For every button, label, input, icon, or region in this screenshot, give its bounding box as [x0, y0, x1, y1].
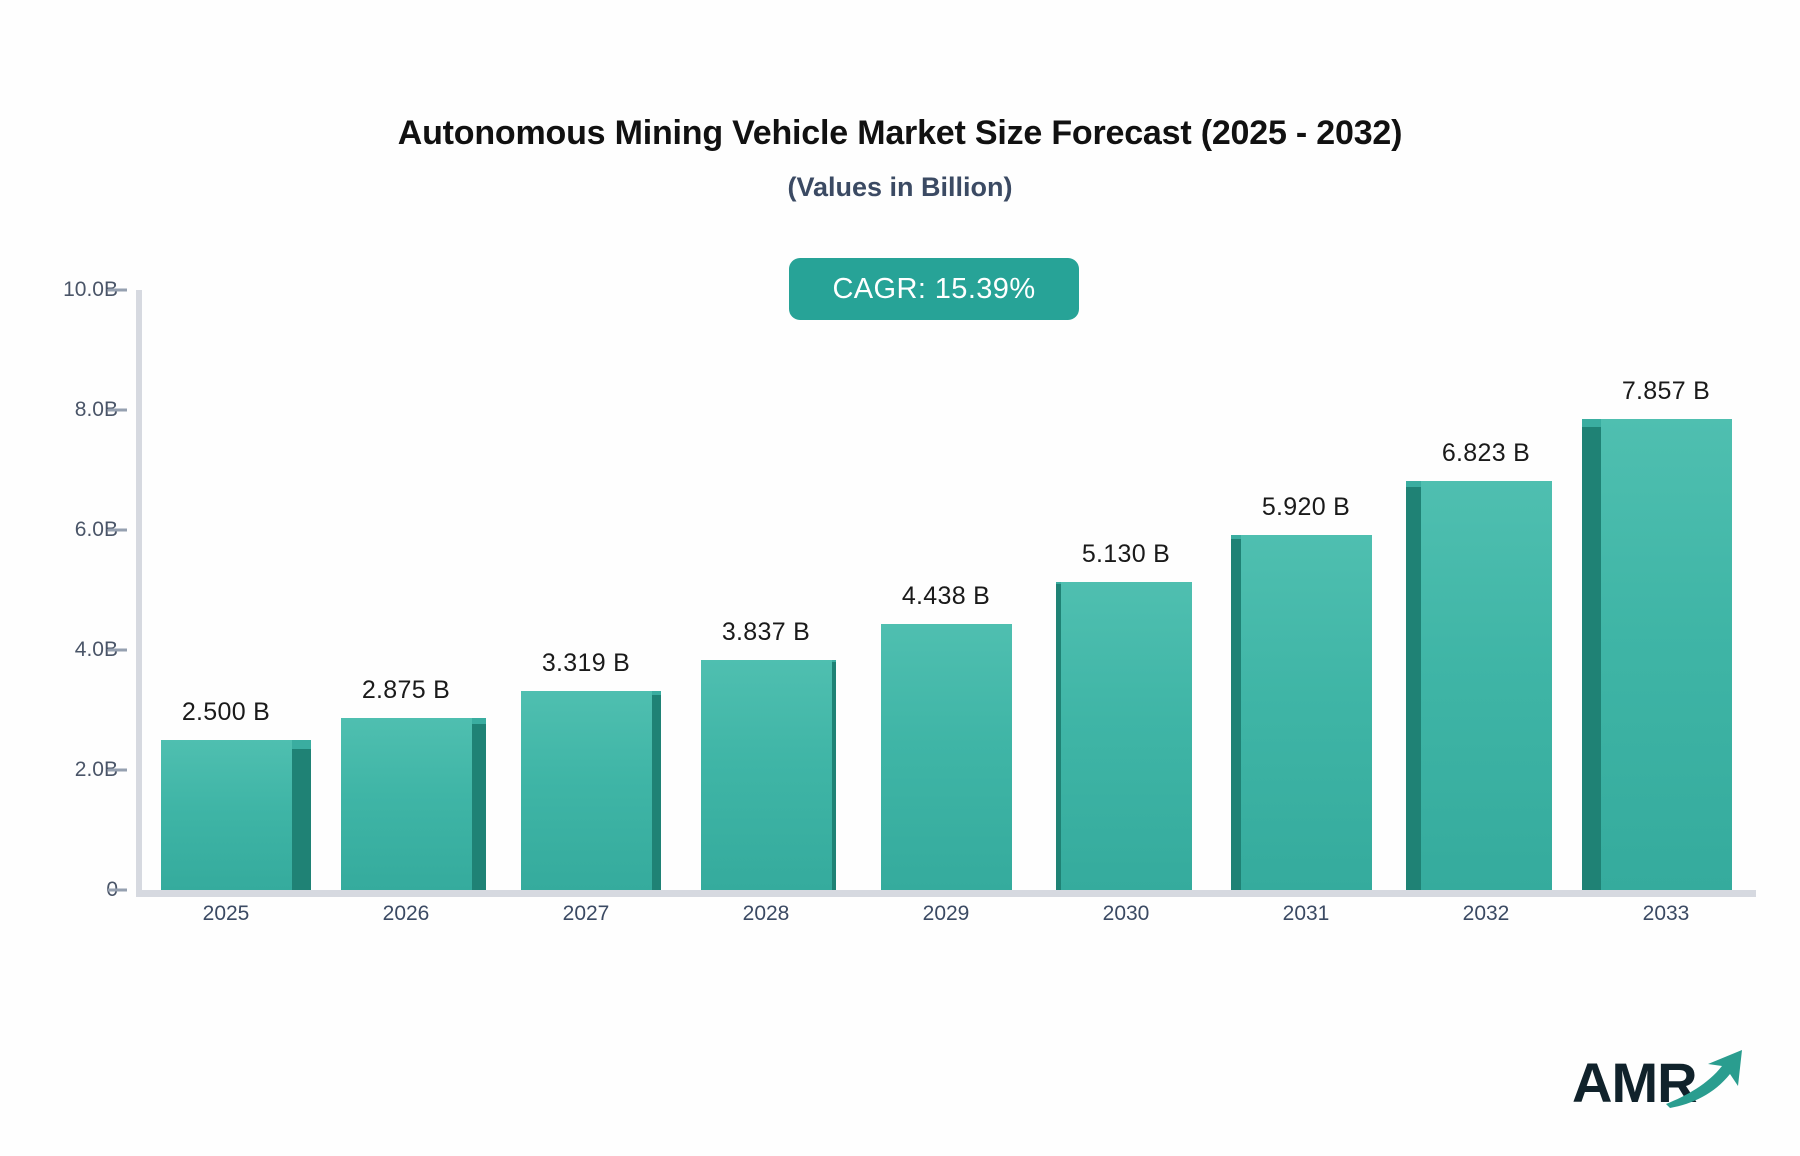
bar-front-face — [701, 660, 832, 890]
bar-top-face — [1231, 535, 1241, 539]
bar-column[interactable]: 3.837 B — [701, 660, 832, 890]
x-axis-tick-label: 2027 — [563, 902, 610, 926]
y-axis-tick-label: 6.0B — [22, 518, 118, 542]
bar-front-face — [341, 718, 472, 891]
bar-column[interactable]: 2.500 B — [161, 740, 292, 890]
y-axis-tick-mark — [108, 289, 127, 292]
bar-side-face — [472, 724, 486, 890]
bar-top-face — [1582, 419, 1601, 428]
bar-value-label: 7.857 B — [1622, 377, 1710, 406]
y-axis-tick-mark — [108, 649, 127, 652]
bar-column[interactable]: 5.130 B — [1061, 582, 1192, 890]
y-axis-tick-mark — [108, 529, 127, 532]
bar-value-label: 2.500 B — [182, 698, 270, 727]
bar-column[interactable]: 5.920 B — [1241, 535, 1372, 890]
x-axis-tick-label: 2032 — [1463, 902, 1510, 926]
bar-front-face — [1241, 535, 1372, 890]
y-axis-tick-mark — [108, 889, 127, 892]
trending-up-arrow-icon — [1664, 1048, 1754, 1110]
bar-top-face — [472, 718, 486, 724]
bar-front-face — [881, 624, 1012, 890]
bar-top-face — [1406, 481, 1420, 487]
bar-side-face — [292, 749, 311, 890]
bar-front-face — [161, 740, 292, 890]
plot-area: 2.500 B2.875 B3.319 B3.837 B4.438 B5.130… — [136, 290, 1756, 890]
bar-side-face — [1406, 487, 1420, 890]
bar-column[interactable]: 6.823 B — [1421, 481, 1552, 890]
bar-column[interactable]: 7.857 B — [1601, 419, 1732, 890]
x-axis-tick-label: 2030 — [1103, 902, 1150, 926]
bar-front-face — [1421, 481, 1552, 890]
amr-logo: AMR — [1572, 1042, 1752, 1114]
bar-side-face — [1582, 427, 1601, 890]
bar-top-face — [292, 740, 311, 749]
bar-side-face — [1231, 539, 1241, 890]
bar-value-label: 5.920 B — [1262, 493, 1350, 522]
y-axis-tick-label: 4.0B — [22, 638, 118, 662]
bar-value-label: 3.319 B — [542, 649, 630, 678]
bar-column[interactable]: 3.319 B — [521, 691, 652, 890]
bar-front-face — [521, 691, 652, 890]
bar-value-label: 2.875 B — [362, 676, 450, 705]
y-axis-tick-label: 10.0B — [22, 278, 118, 302]
bar-top-face — [832, 660, 837, 662]
y-axis-tick-label: 2.0B — [22, 758, 118, 782]
x-axis-tick-label: 2028 — [743, 902, 790, 926]
x-axis-tick-label: 2031 — [1283, 902, 1330, 926]
bar-front-face — [1061, 582, 1192, 890]
y-axis-tick-mark — [108, 769, 127, 772]
x-axis-tick-label: 2025 — [203, 902, 250, 926]
page-title: Autonomous Mining Vehicle Market Size Fo… — [0, 114, 1800, 153]
bar-side-face — [652, 695, 662, 890]
y-axis-tick-mark — [108, 409, 127, 412]
bar-value-label: 6.823 B — [1442, 439, 1530, 468]
chart-subtitle: (Values in Billion) — [0, 172, 1800, 203]
bar-column[interactable]: 2.875 B — [341, 718, 472, 891]
bar-value-label: 4.438 B — [902, 582, 990, 611]
bar-value-label: 3.837 B — [722, 618, 810, 647]
chart-canvas: Autonomous Mining Vehicle Market Size Fo… — [0, 0, 1800, 1156]
bar-front-face — [1601, 419, 1732, 890]
y-axis-tick-label: 0 — [22, 878, 118, 902]
bar-top-face — [652, 691, 662, 695]
x-axis-tick-label: 2033 — [1643, 902, 1690, 926]
bar-column[interactable]: 4.438 B — [881, 624, 1012, 890]
x-axis-tick-label: 2026 — [383, 902, 430, 926]
y-axis-tick-label: 8.0B — [22, 398, 118, 422]
y-axis-line — [136, 290, 142, 890]
x-axis-line — [136, 890, 1756, 897]
bar-side-face — [832, 662, 837, 890]
bar-value-label: 5.130 B — [1082, 540, 1170, 569]
x-axis-tick-label: 2029 — [923, 902, 970, 926]
